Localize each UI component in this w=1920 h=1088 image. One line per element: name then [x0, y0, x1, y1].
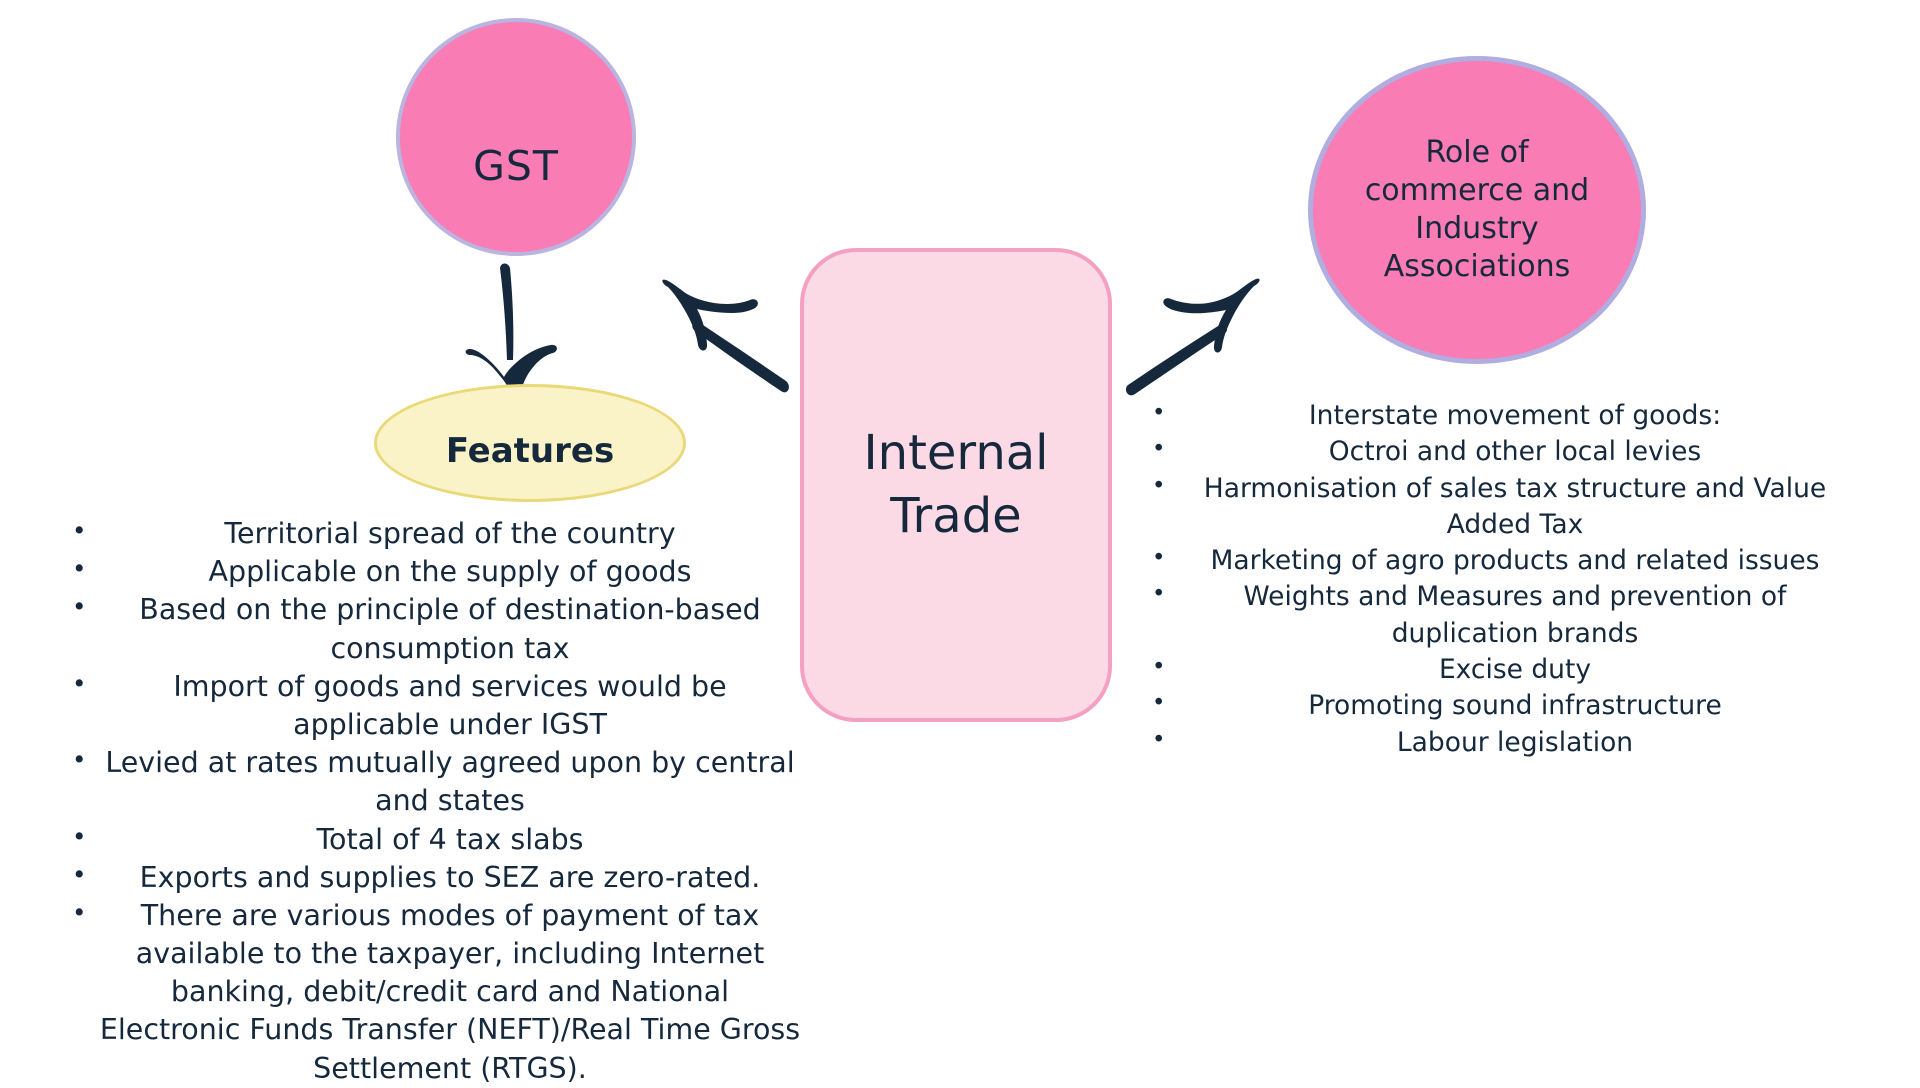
list-item: There are various modes of payment of ta… [72, 897, 802, 1088]
list-item: Interstate movement of goods: [1152, 398, 1852, 434]
node-internal-trade-label: Internal Trade [864, 422, 1049, 549]
internal-trade-to-gst-arrow [662, 280, 789, 393]
node-associations[interactable]: Role of commerce and Industry Associatio… [1308, 56, 1646, 364]
features-bullet-list: Territorial spread of the countryApplica… [72, 515, 802, 1088]
node-gst-label: GST [473, 142, 559, 190]
associations-bullet-list: Interstate movement of goods:Octroi and … [1152, 398, 1852, 761]
list-item: Exports and supplies to SEZ are zero-rat… [72, 859, 802, 897]
node-gst[interactable]: GST [396, 18, 636, 256]
node-internal-trade[interactable]: Internal Trade [800, 248, 1112, 722]
list-item: Weights and Measures and prevention of d… [1152, 579, 1852, 652]
node-associations-label: Role of commerce and Industry Associatio… [1365, 134, 1589, 286]
list-item: Applicable on the supply of goods [72, 553, 802, 591]
list-item: Harmonisation of sales tax structure and… [1152, 471, 1852, 544]
list-item: Total of 4 tax slabs [72, 821, 802, 859]
list-item: Territorial spread of the country [72, 515, 802, 553]
diagram-canvas: GST Role of commerce and Industry Associ… [0, 0, 1920, 1080]
list-item: Levied at rates mutually agreed upon by … [72, 744, 802, 820]
list-item: Octroi and other local levies [1152, 434, 1852, 470]
internal-trade-to-associations-arrow [1126, 279, 1260, 396]
list-item: Marketing of agro products and related i… [1152, 543, 1852, 579]
node-features-label: Features [446, 431, 614, 471]
list-item: Based on the principle of destination-ba… [72, 591, 802, 667]
list-item: Excise duty [1152, 652, 1852, 688]
gst-to-features-arrow [466, 264, 557, 403]
list-item: Labour legislation [1152, 725, 1852, 761]
list-item: Promoting sound infrastructure [1152, 688, 1852, 724]
node-features[interactable]: Features [374, 384, 686, 502]
list-item: Import of goods and services would be ap… [72, 668, 802, 744]
